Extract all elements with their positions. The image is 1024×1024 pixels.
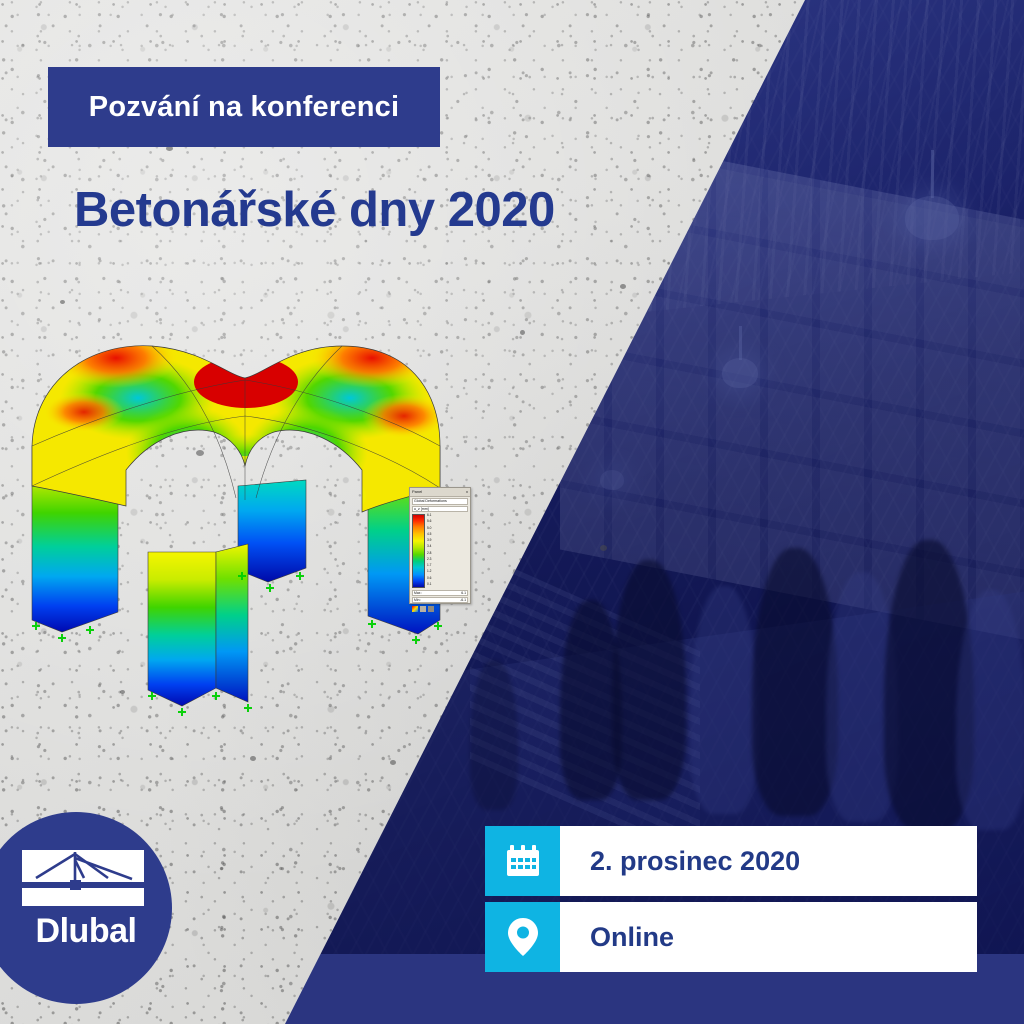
legend-tick: 3.4 xyxy=(427,545,431,548)
legend-colorbar-row: 6.1 5.6 5.0 4.5 3.9 3.4 2.8 2.3 1.7 1.2 … xyxy=(410,513,470,589)
location-pin-icon-block xyxy=(485,902,560,972)
legend-tick: 1.7 xyxy=(427,564,431,567)
legend-tick: 6.1 xyxy=(427,514,431,517)
close-icon[interactable]: x xyxy=(466,488,468,496)
concrete-speck xyxy=(620,284,626,289)
concrete-speck xyxy=(600,545,607,551)
info-row-date[interactable]: 2. prosinec 2020 xyxy=(485,826,977,896)
page-title: Betonářské dny 2020 xyxy=(74,182,555,238)
info-date-label: 2. prosinec 2020 xyxy=(560,826,977,896)
legend-max-row: Max : 6.1 xyxy=(412,590,468,596)
logo-wordmark: Dlubal xyxy=(0,912,172,951)
poster-canvas: Pozvání na konferenci Betonářské dny 202… xyxy=(0,0,1024,1024)
legend-tick: 4.5 xyxy=(427,533,431,536)
legend-max-value: 6.1 xyxy=(461,591,466,595)
legend-toolbar[interactable] xyxy=(410,605,470,613)
legend-window-titlebar: Panel x xyxy=(410,488,470,497)
legend-min-value: -6.1 xyxy=(460,598,466,602)
legend-tick: 2.8 xyxy=(427,552,431,555)
legend-tick: 5.6 xyxy=(427,520,431,523)
legend-min-label: Min : xyxy=(414,598,421,602)
legend-colorbar xyxy=(412,514,425,588)
legend-min-row: Min : -6.1 xyxy=(412,597,468,603)
info-location-label: Online xyxy=(560,902,977,972)
fea-legend-panel[interactable]: Panel x Global Deformations u_z [mm] 6.1… xyxy=(409,487,471,604)
ribbon-label: Pozvání na konferenci xyxy=(89,91,399,124)
concrete-speck xyxy=(60,300,65,304)
legend-minmax: Max : 6.1 Min : -6.1 xyxy=(410,589,470,605)
legend-quantity: u_z [mm] xyxy=(412,506,468,513)
calendar-icon xyxy=(506,844,540,878)
concrete-speck xyxy=(250,756,256,761)
concrete-speck xyxy=(520,330,525,335)
palette-icon[interactable] xyxy=(412,606,418,612)
dlubal-logo[interactable]: Dlubal xyxy=(0,812,172,1004)
legend-tick: 1.2 xyxy=(427,570,431,573)
legend-ticks: 6.1 5.6 5.0 4.5 3.9 3.4 2.8 2.3 1.7 1.2 … xyxy=(427,514,431,586)
info-row-location[interactable]: Online xyxy=(485,902,977,972)
legend-subheader: Global Deformations u_z [mm] xyxy=(410,497,470,512)
legend-tick: 0.6 xyxy=(427,577,431,580)
legend-max-label: Max : xyxy=(414,591,422,595)
settings-icon[interactable] xyxy=(420,606,426,612)
invitation-ribbon: Pozvání na konferenci xyxy=(48,67,440,147)
location-pin-icon xyxy=(508,918,538,956)
bridge-pylon-mark-icon xyxy=(22,850,144,906)
concrete-speck xyxy=(390,760,396,765)
legend-tick: 3.9 xyxy=(427,539,431,542)
legend-tick: 2.3 xyxy=(427,558,431,561)
print-icon[interactable] xyxy=(428,606,434,612)
legend-window-title: Panel xyxy=(412,488,422,496)
logo-inner: Dlubal xyxy=(0,812,172,1004)
legend-tick: 5.0 xyxy=(427,527,431,530)
legend-result-type: Global Deformations xyxy=(412,498,468,505)
calendar-icon-block xyxy=(485,826,560,896)
legend-tick: 0.1 xyxy=(427,583,431,586)
